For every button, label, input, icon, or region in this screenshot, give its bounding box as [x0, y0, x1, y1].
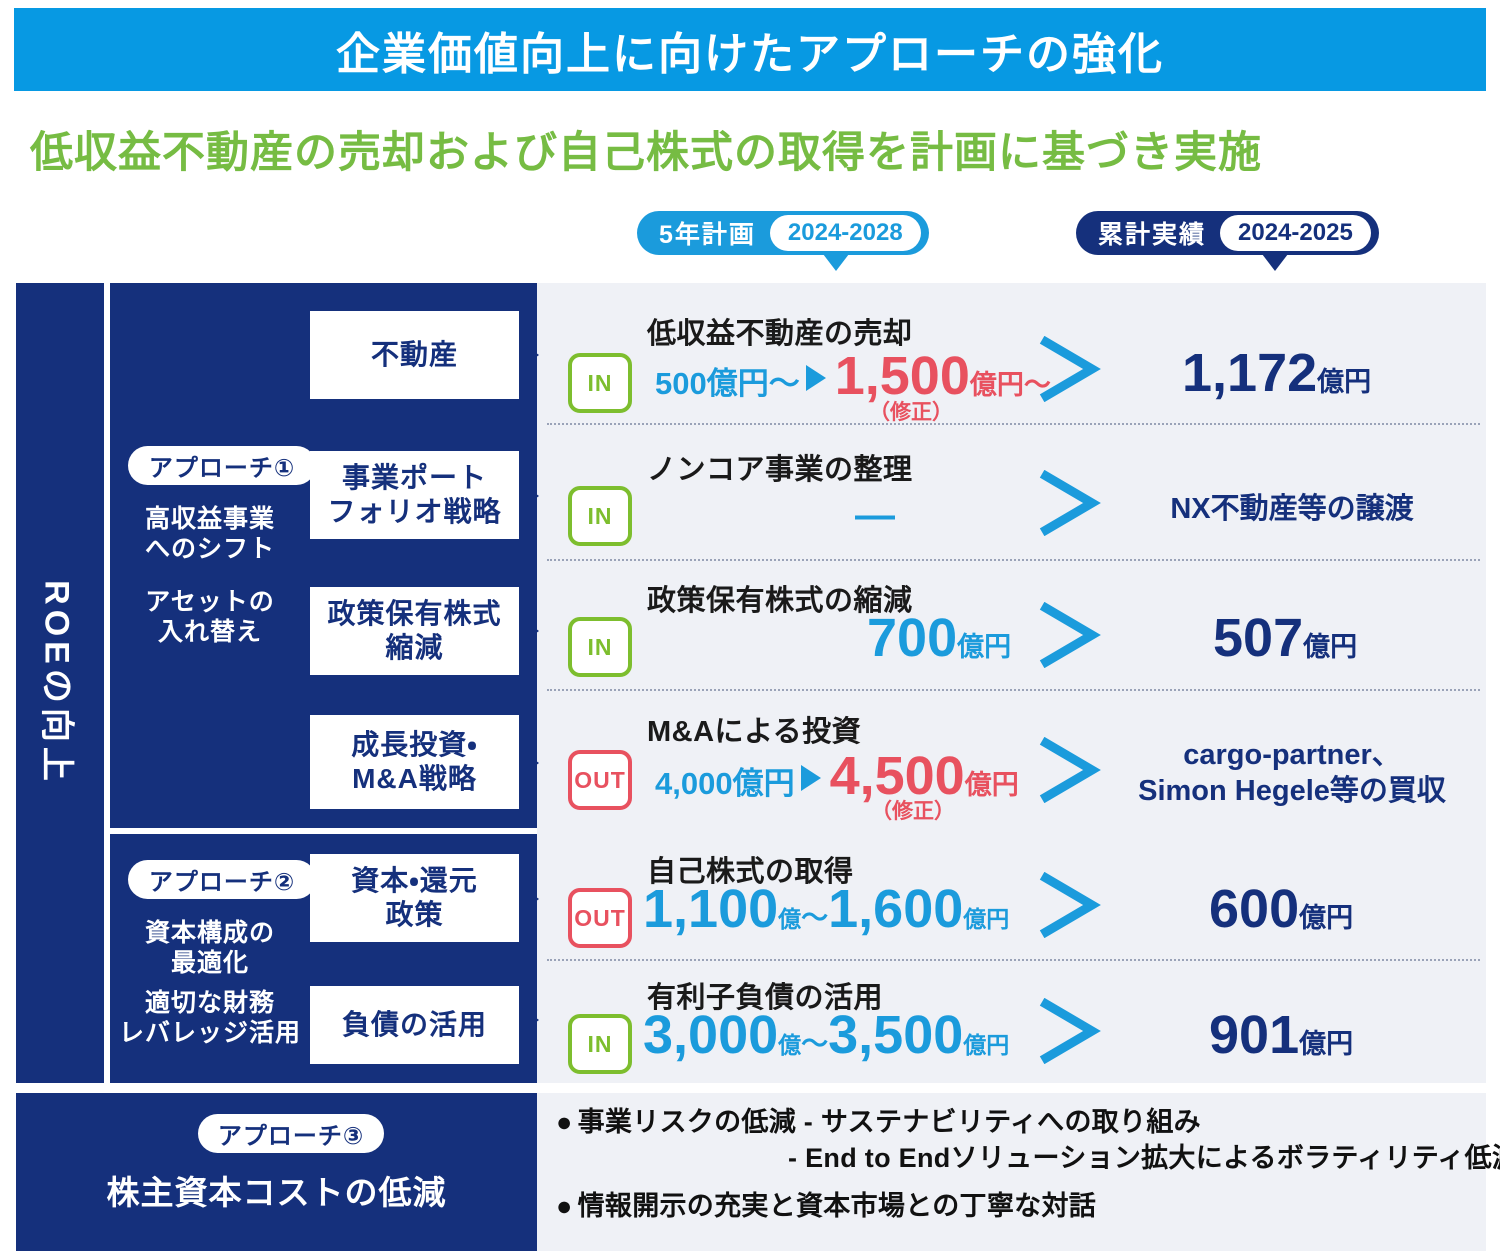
row-6-plan-min: 3,000	[643, 1008, 778, 1062]
badge-plan-pointer	[823, 254, 849, 271]
row-2-heading: ノンコア事業の整理	[647, 446, 913, 488]
row-6-plan-min-unit: 億	[778, 1026, 801, 1060]
row-3-actual-num: 507	[1213, 611, 1303, 665]
strategy-box-portfolio[interactable]: 事業ポート フォリオ戦略	[310, 451, 519, 539]
approach-3-pill: アプローチ③	[198, 1114, 384, 1153]
row-4-plan-value: 4,000億円 4,500 億円	[655, 749, 1019, 803]
chevron-right-icon-3	[1034, 602, 1108, 673]
flow-badge-in-icon: IN	[568, 1014, 632, 1074]
badge-actual-period: 2024-2025	[1220, 215, 1371, 251]
row-3-actual-value: 507 億円	[1213, 611, 1357, 665]
approach-2-subtext-2: 適切な財務 レバレッジ活用	[110, 989, 310, 1048]
roe-rail: ROEの向上	[16, 283, 104, 1083]
metric-row-share-buyback: OUT 自己株式の取得 1,100 億 ～ 1,600 億円 600 億円	[537, 834, 1486, 959]
row-1-actual-value: 1,172 億円	[1182, 346, 1371, 400]
row-4-plan-new-unit: 億円	[965, 763, 1019, 802]
row-1-actual-unit: 億円	[1317, 360, 1371, 399]
row-4-plan-old: 4,000億円	[655, 768, 795, 799]
metric-row-ma-investment: OUT M&Aによる投資 4,000億円 4,500 億円 （修正） cargo…	[537, 689, 1486, 828]
flow-badge-in-icon: IN	[568, 617, 632, 677]
bullet-text-3: 情報開示の充実と資本市場との丁寧な対話	[578, 1191, 1096, 1221]
chevron-right-icon-1	[1034, 336, 1108, 407]
slide-title-bar: 企業価値向上に向けたアプローチの強化	[14, 8, 1486, 91]
strategy-box-growth-ma[interactable]: 成長投資・ M&A戦略	[310, 715, 519, 809]
page-title: 企業価値向上に向けたアプローチの強化	[336, 18, 1164, 82]
row-5-actual-num: 600	[1209, 882, 1299, 936]
strategy-box-debt[interactable]: 負債の活用	[310, 986, 519, 1064]
approach-2-subtext-1: 資本構成の 最適化	[118, 919, 302, 978]
approach-2-pill: アプローチ②	[128, 860, 316, 899]
badge-five-year-plan: 5年計画 2024-2028	[637, 211, 929, 255]
strategy-box-real-estate[interactable]: 不動産	[310, 311, 519, 399]
strategy-box-capital-policy[interactable]: 資本・還元 政策	[310, 854, 519, 942]
row-5-plan-value: 1,100 億 ～ 1,600 億円	[643, 882, 1009, 936]
row-1-plan-value: 500億円～ 1,500 億円～	[655, 349, 1051, 403]
strategy-box-cross-shareholdings[interactable]: 政策保有株式 縮減	[310, 587, 519, 675]
row-1-plan-old: 500億円～	[655, 368, 800, 399]
bullet-item-2: - End to Endソリューション拡大によるボラティリティ低減	[556, 1140, 1486, 1176]
bullet-dot-1: ●	[556, 1104, 573, 1140]
row-1-actual-num: 1,172	[1182, 346, 1317, 400]
bullet-dot-3: ●	[556, 1188, 573, 1224]
row-3-plan-value: 700 億円	[867, 611, 1011, 665]
row-5-plan-min-unit: 億	[778, 900, 801, 934]
row-4-revised-note: （修正）	[871, 795, 955, 825]
metric-row-cross-shareholdings: IN 政策保有株式の縮減 700 億円 507 億円	[537, 559, 1486, 689]
row-separator-1	[547, 423, 1480, 425]
badge-plan-label: 5年計画	[637, 215, 770, 251]
row-6-plan-value: 3,000 億 ～ 3,500 億円	[643, 1008, 1009, 1062]
row-1-revised-note: （修正）	[869, 396, 953, 426]
row-4-actual-text: cargo-partner、 Simon Hegele等の買収	[1092, 737, 1492, 810]
flow-badge-in-icon: IN	[568, 486, 632, 546]
row-5-actual-unit: 億円	[1299, 896, 1353, 935]
row-3-plan-unit: 億円	[957, 625, 1011, 664]
row-6-actual-unit: 億円	[1299, 1022, 1353, 1061]
badge-plan-period: 2024-2028	[770, 215, 921, 251]
flow-badge-out-icon: OUT	[568, 750, 632, 810]
row-6-plan-max-unit: 億円	[963, 1026, 1009, 1060]
row-5-plan-max-unit: 億円	[963, 900, 1009, 934]
flow-badge-in-icon: IN	[568, 353, 632, 413]
row-4-heading: M&Aによる投資	[647, 708, 861, 750]
badge-cumulative-actual: 累計実績 2024-2025	[1076, 211, 1379, 255]
approach-1-subtext-2: アセットの 入れ替え	[124, 588, 296, 647]
row-5-plan-max: 1,600	[828, 882, 963, 936]
bullet-text-2: - End to Endソリューション拡大によるボラティリティ低減	[788, 1143, 1500, 1173]
roe-rail-label: ROEの向上	[36, 580, 85, 786]
row-1-plan-new: 1,500	[835, 349, 970, 403]
bullet-item-1: ●事業リスクの低減 - サステナビリティへの取り組み	[556, 1104, 1486, 1140]
badge-actual-label: 累計実績	[1076, 215, 1220, 251]
row-separator-3	[547, 689, 1480, 691]
row-6-actual-value: 901 億円	[1209, 1008, 1353, 1062]
row-2-actual-text: NX不動産等の譲渡	[1127, 491, 1457, 527]
row-6-actual-num: 901	[1209, 1008, 1299, 1062]
approach-1-pill: アプローチ①	[128, 446, 316, 485]
bullet-text-1: 事業リスクの低減 - サステナビリティへの取り組み	[578, 1107, 1201, 1137]
row-3-actual-unit: 億円	[1303, 625, 1357, 664]
approach-1-subtext-1: 高収益事業 へのシフト	[124, 505, 296, 564]
metric-row-debt: IN 有利子負債の活用 3,000 億 ～ 3,500 億円 901 億円	[537, 959, 1486, 1083]
row-2-plan-dash: —	[855, 495, 895, 535]
row-separator-2	[547, 559, 1480, 561]
row-separator-4	[547, 959, 1480, 961]
row-5-actual-value: 600 億円	[1209, 882, 1353, 936]
chevron-right-icon-2	[1034, 470, 1108, 541]
chevron-right-icon-6	[1034, 998, 1108, 1069]
row-5-plan-min: 1,100	[643, 882, 778, 936]
metric-row-noncore: IN ノンコア事業の整理 — NX不動産等の譲渡	[537, 423, 1486, 559]
metric-row-real-estate: IN 低収益不動産の売却 500億円～ 1,500 億円～ （修正） 1,172…	[537, 283, 1486, 423]
row-5-plan-range-sep: ～	[801, 896, 828, 935]
row-6-plan-range-sep: ～	[801, 1022, 828, 1061]
flow-badge-out-icon: OUT	[568, 888, 632, 948]
chevron-right-icon-5	[1034, 872, 1108, 943]
change-arrow-icon-2	[801, 765, 821, 791]
change-arrow-icon-1	[806, 365, 826, 391]
approach-3-title: 株主資本コストの低減	[16, 1166, 537, 1214]
badge-actual-pointer	[1262, 254, 1288, 271]
bullet-list: ●事業リスクの低減 - サステナビリティへの取り組み - End to Endソ…	[556, 1104, 1486, 1225]
bullet-item-3: ●情報開示の充実と資本市場との丁寧な対話	[556, 1188, 1486, 1224]
row-3-plan-num: 700	[867, 611, 957, 665]
slide-root: 企業価値向上に向けたアプローチの強化 低収益不動産の売却および自己株式の取得を計…	[0, 0, 1500, 1258]
row-6-plan-max: 3,500	[828, 1008, 963, 1062]
page-subtitle: 低収益不動産の売却および自己株式の取得を計画に基づき実施	[30, 118, 1480, 180]
